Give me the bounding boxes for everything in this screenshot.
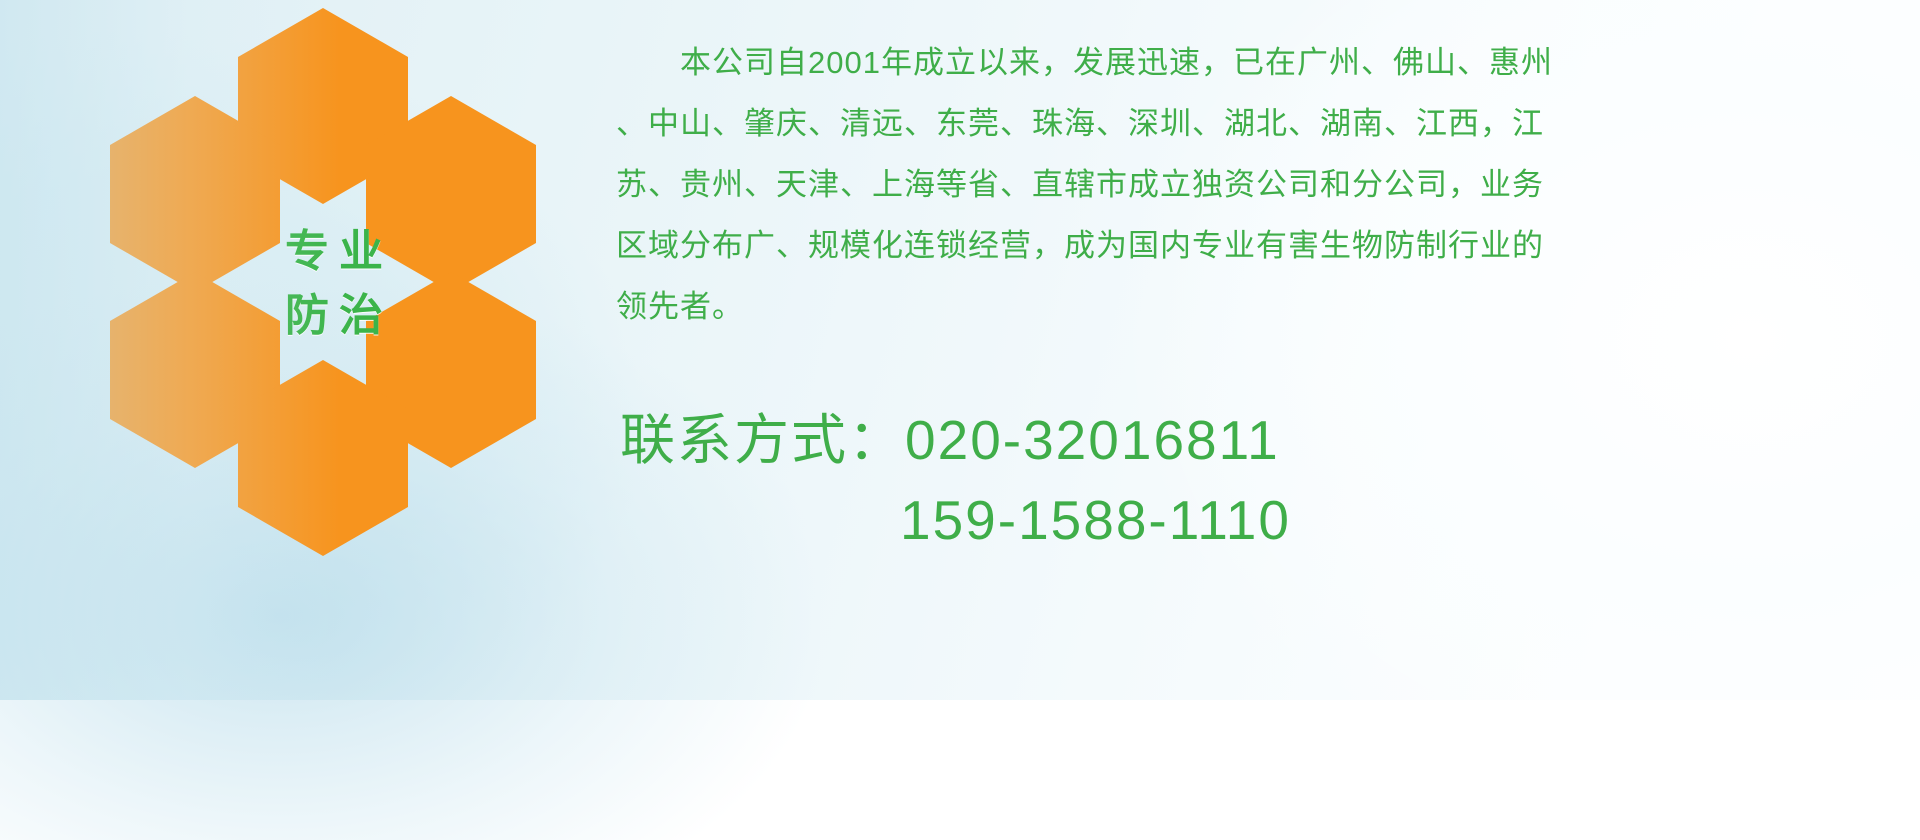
ant-photo-icon (245, 368, 401, 548)
contact-secondary-row: 159-1588-1110 (620, 480, 1900, 560)
logo-center-text: 专业 防治 (248, 184, 420, 384)
intro-line-5: 领先者。 (616, 280, 1896, 333)
intro-line-2: 、中山、肇庆、清远、东莞、珠海、深圳、湖北、湖南、江西，江 (616, 97, 1896, 150)
phone-secondary[interactable]: 159-1588-1110 (900, 489, 1291, 551)
contact-label: 联系方式： (620, 409, 905, 471)
intro-line-1: 本公司自2001年成立以来，发展迅速，已在广州、佛山、惠州 (616, 36, 1896, 89)
phone-primary[interactable]: 020-32016811 (905, 409, 1280, 471)
contact-primary-row: 联系方式：020-32016811 (620, 400, 1900, 480)
intro-line-3: 苏、贵州、天津、上海等省、直辖市成立独资公司和分公司，业务 (616, 158, 1896, 211)
logo-text-line2: 防治 (275, 289, 393, 343)
intro-line-4: 区域分布广、规模化连锁经营，成为国内专业有害生物防制行业的 (616, 219, 1896, 272)
contact-block: 联系方式：020-32016811 159-1588-1110 (620, 400, 1900, 560)
logo-text-line1: 专业 (275, 225, 393, 279)
honeycomb-pest-logo: 专业 防治 (78, 8, 588, 568)
company-intro: 本公司自2001年成立以来，发展迅速，已在广州、佛山、惠州 、中山、肇庆、清远、… (616, 36, 1896, 341)
promo-banner: 专业 防治 本公司自2001年成立以来，发展迅速，已在广州、佛山、惠州 、中山、… (0, 0, 1920, 700)
